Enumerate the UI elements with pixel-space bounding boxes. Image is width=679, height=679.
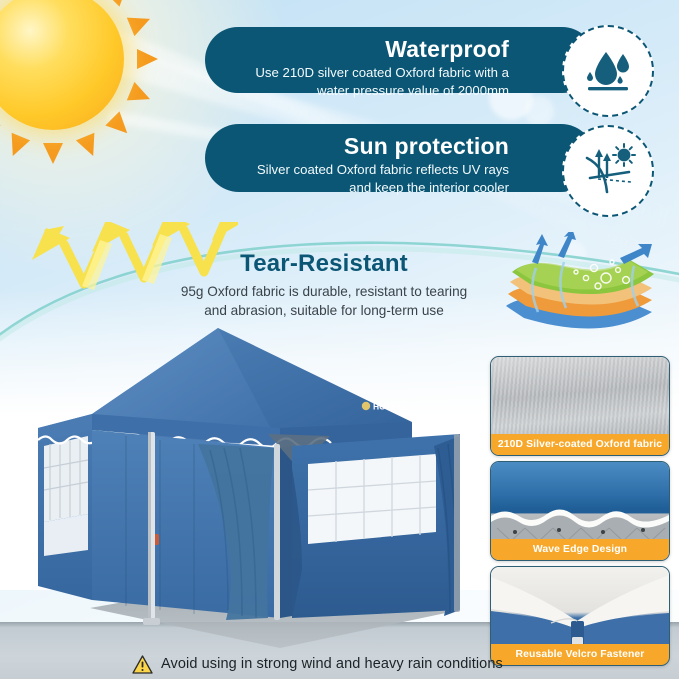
detail-card-caption: 210D Silver-coated Oxford fabric: [491, 434, 669, 455]
tear-resistant-section: Tear-Resistant 95g Oxford fabric is dura…: [150, 250, 498, 321]
sun-core: [0, 0, 124, 130]
tent-window-right: [308, 454, 436, 544]
sun-ray: [0, 111, 1, 140]
feature-description: Silver coated Oxford fabric reflects UV …: [205, 161, 509, 196]
warning-triangle-icon: [132, 655, 153, 674]
sun-ray: [105, 111, 134, 140]
sun-ray: [137, 49, 158, 69]
water-drop-icon: [562, 25, 654, 117]
layered-fabric-icon: [502, 232, 664, 340]
feature-description-line1: Use 210D silver coated Oxford fabric wit…: [255, 65, 509, 80]
lens-flare-bokeh: [524, 96, 554, 126]
tent-inner-corner: [280, 446, 292, 618]
detail-card-wave-edge[interactable]: Wave Edge Design: [490, 461, 670, 561]
feature-description: Use 210D silver coated Oxford fabric wit…: [205, 64, 509, 99]
sun-icon: [0, 0, 158, 164]
detail-card-fabric[interactable]: 210D Silver-coated Oxford fabric: [490, 356, 670, 456]
tear-resistant-line2: and abrasion, suitable for long-term use: [204, 303, 444, 318]
feature-description-line1: Silver coated Oxford fabric reflects UV …: [257, 162, 509, 177]
feature-banner-waterproof: Waterproof Use 210D silver coated Oxford…: [205, 27, 595, 93]
sun-ray: [43, 143, 63, 164]
sun-reflect-icon: [562, 125, 654, 217]
blue-pop-up-canopy-tent: HOTEEL: [30, 318, 500, 663]
detail-card-velcro[interactable]: Reusable Velcro Fastener: [490, 566, 670, 666]
feature-title: Sun protection: [205, 134, 509, 158]
infographic-canvas: Waterproof Use 210D silver coated Oxford…: [0, 0, 679, 679]
sun-ray: [127, 10, 154, 37]
sun-ray: [105, 0, 134, 7]
feature-description-line2: and keep the interior cooler: [349, 180, 509, 195]
tear-resistant-title: Tear-Resistant: [150, 250, 498, 278]
feature-banner-sun-protection: Sun protection Silver coated Oxford fabr…: [205, 124, 595, 192]
warning-text: Avoid using in strong wind and heavy rai…: [161, 656, 503, 672]
svg-text:HOTEEL: HOTEEL: [373, 401, 407, 411]
warning-note: Avoid using in strong wind and heavy rai…: [132, 652, 552, 676]
sun-ray: [76, 133, 103, 160]
feature-title: Waterproof: [205, 37, 509, 61]
sun-ray: [4, 133, 31, 160]
sun-ray: [127, 82, 154, 109]
tear-resistant-line1: 95g Oxford fabric is durable, resistant …: [181, 284, 467, 299]
tear-resistant-description: 95g Oxford fabric is durable, resistant …: [150, 283, 498, 321]
sun-ray: [0, 0, 1, 7]
feature-description-line2: water pressure value of 2000mm: [317, 83, 509, 98]
detail-card-caption: Wave Edge Design: [491, 539, 669, 560]
